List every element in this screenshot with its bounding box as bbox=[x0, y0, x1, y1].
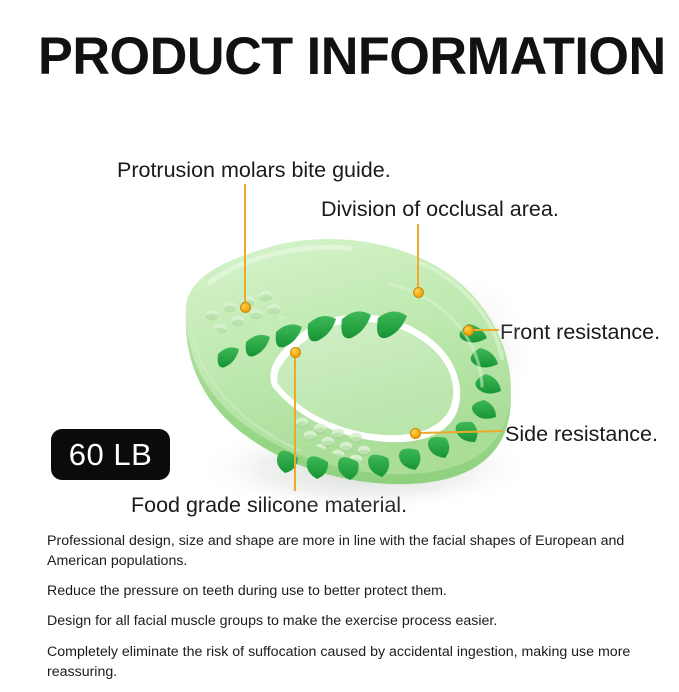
callout-dot-food-grade-silicone-material bbox=[290, 347, 301, 358]
feature-description-list: Professional design, size and shape are … bbox=[47, 531, 663, 692]
callout-dot-division-of-occlusal-area bbox=[413, 287, 424, 298]
feature-paragraph: Reduce the pressure on teeth during use … bbox=[47, 581, 663, 601]
page-title: PRODUCT INFORMATION bbox=[38, 30, 654, 83]
callout-label-protrusion-molars-bite-guide: Protrusion molars bite guide. bbox=[117, 158, 391, 184]
product-image bbox=[150, 236, 540, 521]
resistance-badge-label: 60 LB bbox=[69, 439, 153, 470]
feature-paragraph: Professional design, size and shape are … bbox=[47, 531, 663, 571]
callout-dot-front-resistance bbox=[463, 325, 474, 336]
callout-dot-protrusion-molars-bite-guide bbox=[240, 302, 251, 313]
callout-label-division-of-occlusal-area: Division of occlusal area. bbox=[321, 197, 559, 223]
feature-paragraph: Completely eliminate the risk of suffoca… bbox=[47, 642, 663, 682]
callout-dot-side-resistance bbox=[410, 428, 421, 439]
product-information-page: PRODUCT INFORMATION bbox=[0, 0, 679, 679]
feature-paragraph: Design for all facial muscle groups to m… bbox=[47, 611, 663, 631]
